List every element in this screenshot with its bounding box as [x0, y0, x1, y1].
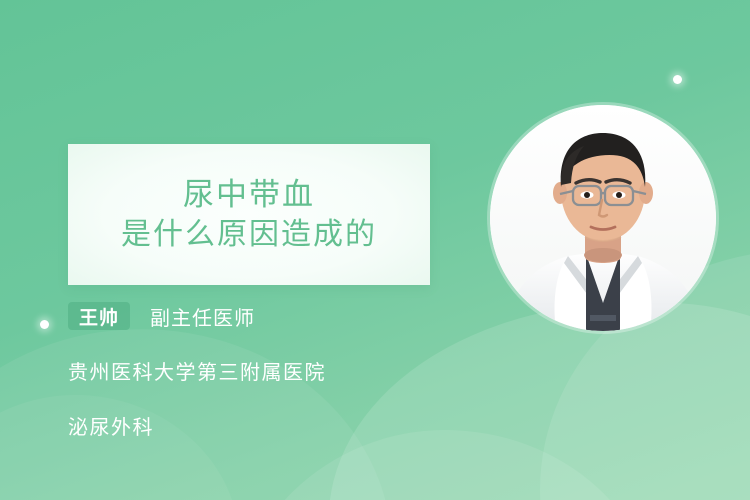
doctor-department: 泌尿外科: [68, 411, 468, 440]
title-card: 尿中带血 是什么原因造成的: [68, 144, 430, 285]
doctor-name-row: 王帅 副主任医师: [68, 298, 468, 334]
sparkle-dot-icon-top-right: [673, 75, 682, 84]
background-wave-bottom: [230, 430, 660, 500]
doctor-info-block: 王帅 副主任医师 贵州医科大学第三附属医院 泌尿外科: [68, 298, 468, 440]
doctor-rank-title: 副主任医师: [150, 302, 255, 331]
sparkle-dot-icon-left: [40, 320, 49, 329]
title-line-2: 是什么原因造成的: [121, 215, 377, 255]
portrait-illustration: [490, 105, 716, 331]
doctor-portrait: [490, 105, 716, 331]
health-video-card: 尿中带血 是什么原因造成的 王帅 副主任医师 贵州医科大学第三附属医院 泌尿外科: [0, 0, 750, 500]
doctor-hospital: 贵州医科大学第三附属医院: [68, 356, 468, 385]
title-line-1: 尿中带血: [183, 174, 315, 215]
doctor-name-badge: 王帅: [68, 302, 130, 330]
